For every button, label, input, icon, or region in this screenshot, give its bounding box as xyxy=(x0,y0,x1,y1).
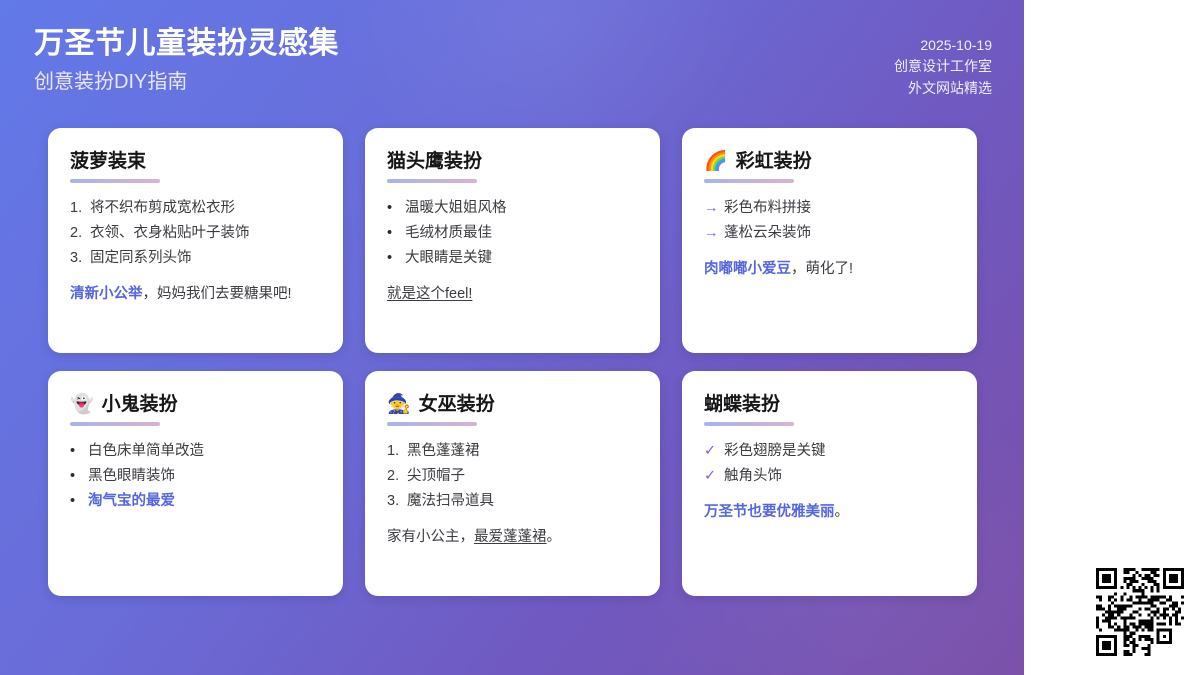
list-marker-num: 3. xyxy=(70,246,90,271)
costume-card[interactable]: 猫头鹰装扮•温暖大姐姐风格•毛绒材质最佳•大眼睛是关键就是这个feel! xyxy=(365,128,660,353)
card-title: 蝴蝶装扮 xyxy=(704,393,780,417)
note-prefix-text: 家有小公主， xyxy=(387,529,474,545)
card-note: 就是这个feel! xyxy=(387,283,640,306)
note-rest-text: ，萌化了! xyxy=(791,261,853,277)
card-list: ✓彩色翅膀是关键✓触角头饰 xyxy=(704,439,957,489)
card-header: 🧙女巫装扮 xyxy=(387,393,640,417)
list-item-link[interactable]: 淘气宝的最爱 xyxy=(88,489,175,514)
list-marker-arrow: → xyxy=(704,221,724,246)
list-item-text: 黑色蓬蓬裙 xyxy=(407,439,480,464)
list-item-text: 毛绒材质最佳 xyxy=(405,221,492,246)
list-item-text: 白色床单简单改造 xyxy=(88,439,204,464)
list-marker-bullet: • xyxy=(70,439,88,464)
list-item-text: 彩色布料拼接 xyxy=(724,196,811,221)
list-marker-check: ✓ xyxy=(704,439,724,464)
list-item: •大眼睛是关键 xyxy=(387,246,640,271)
costume-card[interactable]: 菠萝装束1.将不织布剪成宽松衣形2.衣领、衣身粘贴叶子装饰3.固定同系列头饰清新… xyxy=(48,128,343,353)
card-header: 🌈彩虹装扮 xyxy=(704,150,957,174)
title-underline-rule xyxy=(704,179,794,183)
costume-card[interactable]: 🧙女巫装扮1.黑色蓬蓬裙2.尖顶帽子3.魔法扫帚道具家有小公主，最爱蓬蓬裙。 xyxy=(365,371,660,596)
meta-studio: 创意设计工作室 xyxy=(894,56,992,77)
list-item: 3.固定同系列头饰 xyxy=(70,246,323,271)
note-rest-text: 。 xyxy=(835,504,850,520)
list-marker-bullet: • xyxy=(387,221,405,246)
card-list: •温暖大姐姐风格•毛绒材质最佳•大眼睛是关键 xyxy=(387,196,640,271)
list-item-text: 固定同系列头饰 xyxy=(90,246,192,271)
note-link[interactable]: 清新小公举 xyxy=(70,286,143,302)
list-item-text: 温暖大姐姐风格 xyxy=(405,196,507,221)
card-note: 万圣节也要优雅美丽。 xyxy=(704,501,957,524)
list-marker-bullet: • xyxy=(70,489,88,514)
costume-card[interactable]: 🌈彩虹装扮→彩色布料拼接→蓬松云朵装饰肉嘟嘟小爱豆，萌化了! xyxy=(682,128,977,353)
title-underline-rule xyxy=(70,179,160,183)
card-list: →彩色布料拼接→蓬松云朵装饰 xyxy=(704,196,957,246)
slide-header: 万圣节儿童装扮灵感集 创意装扮DIY指南 2025-10-19 创意设计工作室 … xyxy=(0,0,1024,120)
page-subtitle: 创意装扮DIY指南 xyxy=(34,70,339,94)
card-note: 清新小公举，妈妈我们去要糖果吧! xyxy=(70,283,323,306)
card-grid: 菠萝装束1.将不织布剪成宽松衣形2.衣领、衣身粘贴叶子装饰3.固定同系列头饰清新… xyxy=(48,128,976,596)
card-title: 菠萝装束 xyxy=(70,150,146,174)
card-list: 1.黑色蓬蓬裙2.尖顶帽子3.魔法扫帚道具 xyxy=(387,439,640,514)
title-underline-rule xyxy=(704,422,794,426)
list-item-text: 大眼睛是关键 xyxy=(405,246,492,271)
qr-code xyxy=(1096,568,1184,656)
card-title: 女巫装扮 xyxy=(419,393,495,417)
list-item: 2.尖顶帽子 xyxy=(387,464,640,489)
page-title: 万圣节儿童装扮灵感集 xyxy=(34,27,339,62)
rainbow-icon: 🌈 xyxy=(704,152,728,171)
note-link[interactable]: 就是这个feel! xyxy=(387,286,472,302)
costume-card[interactable]: 👻小鬼装扮•白色床单简单改造•黑色眼睛装饰•淘气宝的最爱 xyxy=(48,371,343,596)
list-item: ✓彩色翅膀是关键 xyxy=(704,439,957,464)
list-marker-bullet: • xyxy=(387,246,405,271)
meta-source: 外文网站精选 xyxy=(894,78,992,99)
header-meta-block: 2025-10-19 创意设计工作室 外文网站精选 xyxy=(894,35,992,99)
list-item: •白色床单简单改造 xyxy=(70,439,323,464)
witch-hat-icon: 🧙 xyxy=(387,395,411,414)
list-marker-bullet: • xyxy=(387,196,405,221)
list-item: ✓触角头饰 xyxy=(704,464,957,489)
list-marker-num: 1. xyxy=(70,196,90,221)
list-item: 3.魔法扫帚道具 xyxy=(387,489,640,514)
list-item-text: 将不织布剪成宽松衣形 xyxy=(90,196,235,221)
list-item: →彩色布料拼接 xyxy=(704,196,957,221)
slide-panel: 万圣节儿童装扮灵感集 创意装扮DIY指南 2025-10-19 创意设计工作室 … xyxy=(0,0,1024,675)
list-item-text: 魔法扫帚道具 xyxy=(407,489,494,514)
list-item-text: 衣领、衣身粘贴叶子装饰 xyxy=(90,221,250,246)
note-link[interactable]: 万圣节也要优雅美丽 xyxy=(704,504,835,520)
list-marker-check: ✓ xyxy=(704,464,724,489)
title-underline-rule xyxy=(387,179,477,183)
list-item: 2.衣领、衣身粘贴叶子装饰 xyxy=(70,221,323,246)
card-list: 1.将不织布剪成宽松衣形2.衣领、衣身粘贴叶子装饰3.固定同系列头饰 xyxy=(70,196,323,271)
costume-card[interactable]: 蝴蝶装扮✓彩色翅膀是关键✓触角头饰万圣节也要优雅美丽。 xyxy=(682,371,977,596)
list-item: •淘气宝的最爱 xyxy=(70,489,323,514)
meta-date: 2025-10-19 xyxy=(894,35,992,56)
card-header: 菠萝装束 xyxy=(70,150,323,174)
card-note: 肉嘟嘟小爱豆，萌化了! xyxy=(704,258,957,281)
card-title: 猫头鹰装扮 xyxy=(387,150,482,174)
list-item: •黑色眼睛装饰 xyxy=(70,464,323,489)
list-marker-bullet: • xyxy=(70,464,88,489)
note-link[interactable]: 最爱蓬蓬裙 xyxy=(474,529,547,545)
card-title: 彩虹装扮 xyxy=(736,150,812,174)
card-header: 猫头鹰装扮 xyxy=(387,150,640,174)
list-item: 1.将不织布剪成宽松衣形 xyxy=(70,196,323,221)
note-link[interactable]: 肉嘟嘟小爱豆 xyxy=(704,261,791,277)
card-header: 蝴蝶装扮 xyxy=(704,393,957,417)
list-item-text: 触角头饰 xyxy=(724,464,782,489)
list-item-text: 尖顶帽子 xyxy=(407,464,465,489)
card-note: 家有小公主，最爱蓬蓬裙。 xyxy=(387,526,640,549)
list-item-text: 彩色翅膀是关键 xyxy=(724,439,826,464)
card-list: •白色床单简单改造•黑色眼睛装饰•淘气宝的最爱 xyxy=(70,439,323,514)
list-marker-num: 2. xyxy=(387,464,407,489)
list-item: →蓬松云朵装饰 xyxy=(704,221,957,246)
ghost-icon: 👻 xyxy=(70,395,94,414)
card-header: 👻小鬼装扮 xyxy=(70,393,323,417)
list-item-text: 蓬松云朵装饰 xyxy=(724,221,811,246)
title-underline-rule xyxy=(70,422,160,426)
list-marker-arrow: → xyxy=(704,196,724,221)
note-rest-text: 。 xyxy=(547,529,562,545)
list-item: •温暖大姐姐风格 xyxy=(387,196,640,221)
list-item: •毛绒材质最佳 xyxy=(387,221,640,246)
list-marker-num: 2. xyxy=(70,221,90,246)
note-rest-text: ，妈妈我们去要糖果吧! xyxy=(143,286,292,302)
header-title-block: 万圣节儿童装扮灵感集 创意装扮DIY指南 xyxy=(34,27,339,94)
list-item-text: 黑色眼睛装饰 xyxy=(88,464,175,489)
list-marker-num: 3. xyxy=(387,489,407,514)
title-underline-rule xyxy=(387,422,477,426)
list-item: 1.黑色蓬蓬裙 xyxy=(387,439,640,464)
card-title: 小鬼装扮 xyxy=(102,393,178,417)
list-marker-num: 1. xyxy=(387,439,407,464)
